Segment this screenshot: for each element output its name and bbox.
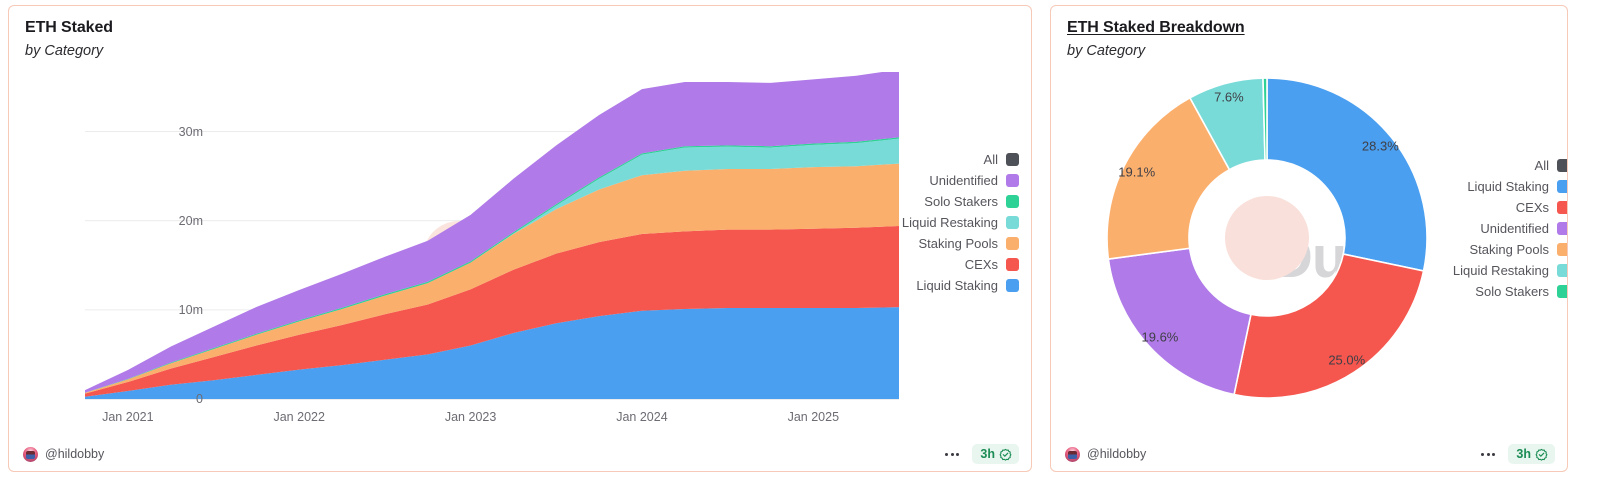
legend-item-solo-stakers[interactable]: Solo Stakers (1453, 284, 1568, 299)
legend-item-liquid-staking[interactable]: Liquid Staking (902, 278, 1019, 293)
x-axis: Jan 2021Jan 2022Jan 2023Jan 2024Jan 2025 (9, 410, 899, 432)
legend-item-unidentified[interactable]: Unidentified (902, 173, 1019, 188)
status-badge[interactable]: 3h (972, 444, 1019, 464)
author-name[interactable]: @hildobby (1087, 447, 1146, 461)
legend-swatch (1006, 237, 1019, 250)
verified-check-icon (999, 448, 1012, 461)
legend-item-cexs[interactable]: CEXs (902, 257, 1019, 272)
legend-swatch (1006, 279, 1019, 292)
legend-swatch (1006, 258, 1019, 271)
center-watermark-blob (1225, 196, 1309, 281)
legend-label: Unidentified (1480, 221, 1549, 236)
legend-item-staking-pools[interactable]: Staking Pools (1453, 242, 1568, 257)
legend-swatch (1557, 201, 1568, 214)
donut-slice-unidentified[interactable] (1108, 248, 1251, 394)
legend-item-cexs[interactable]: CEXs (1453, 200, 1568, 215)
panel-footer: @hildobby 3h (9, 437, 1031, 471)
legend-label: Staking Pools (919, 236, 999, 251)
legend-swatch (1006, 153, 1019, 166)
legend-label: Solo Stakers (924, 194, 998, 209)
status-badge[interactable]: 3h (1508, 444, 1555, 464)
legend-item-liquid-staking[interactable]: Liquid Staking (1453, 179, 1568, 194)
legend-swatch (1006, 216, 1019, 229)
legend-swatch (1557, 222, 1568, 235)
legend-label: Staking Pools (1470, 242, 1550, 257)
author-name[interactable]: @hildobby (45, 447, 104, 461)
freshness-label: 3h (980, 447, 995, 461)
x-axis-tick: Jan 2024 (616, 410, 667, 424)
chart-legend[interactable]: AllLiquid StakingCEXsUnidentifiedStaking… (1453, 158, 1568, 299)
y-axis-tick: 0 (196, 392, 203, 406)
legend-item-all[interactable]: All (1453, 158, 1568, 173)
avatar (1065, 447, 1080, 462)
avatar (23, 447, 38, 462)
panel-eth-staked-breakdown: ETH Staked Breakdown by Category Dune 28… (1050, 5, 1568, 472)
legend-swatch (1557, 243, 1568, 256)
donut-chart[interactable]: Dune 28.3%25.0%19.6%19.1%7.6% AllLiquid … (1051, 6, 1567, 471)
y-axis-tick: 10m (179, 303, 203, 317)
y-axis-tick: 20m (179, 214, 203, 228)
area-chart[interactable]: Dune Jan 2021Jan 2022Jan 2023Jan 2024Jan… (9, 6, 1031, 471)
donut-slice-label: 19.6% (1142, 330, 1179, 345)
dashboard: ETH Staked by Category Dune Jan 2021Jan … (0, 0, 1600, 477)
author[interactable]: @hildobby (1065, 447, 1146, 462)
author[interactable]: @hildobby (23, 447, 104, 462)
legend-label: Solo Stakers (1475, 284, 1549, 299)
donut-slice-label: 19.1% (1118, 165, 1155, 180)
donut-plot[interactable]: 28.3%25.0%19.6%19.1%7.6% (1097, 68, 1437, 408)
legend-item-liquid-restaking[interactable]: Liquid Restaking (902, 215, 1019, 230)
footer-actions: 3h (1478, 444, 1555, 464)
legend-label: All (1535, 158, 1549, 173)
x-axis-tick: Jan 2023 (445, 410, 496, 424)
legend-swatch (1006, 174, 1019, 187)
x-axis-tick: Jan 2025 (788, 410, 839, 424)
verified-check-icon (1535, 448, 1548, 461)
legend-label: Unidentified (929, 173, 998, 188)
legend-item-all[interactable]: All (902, 152, 1019, 167)
legend-label: CEXs (965, 257, 998, 272)
legend-label: Liquid Restaking (902, 215, 998, 230)
footer-actions: 3h (942, 444, 1019, 464)
freshness-label: 3h (1516, 447, 1531, 461)
donut-slice-label: 25.0% (1328, 353, 1365, 368)
legend-item-solo-stakers[interactable]: Solo Stakers (902, 194, 1019, 209)
legend-label: Liquid Staking (1467, 179, 1549, 194)
legend-swatch (1557, 159, 1568, 172)
legend-swatch (1006, 195, 1019, 208)
area-plot[interactable] (9, 72, 899, 417)
donut-svg[interactable] (1097, 68, 1437, 408)
legend-swatch (1557, 180, 1568, 193)
legend-label: CEXs (1516, 200, 1549, 215)
legend-item-staking-pools[interactable]: Staking Pools (902, 236, 1019, 251)
more-options-icon[interactable] (942, 449, 962, 460)
x-axis-tick: Jan 2021 (102, 410, 153, 424)
legend-swatch (1557, 285, 1568, 298)
more-options-icon[interactable] (1478, 449, 1498, 460)
y-axis-tick: 30m (179, 125, 203, 139)
donut-slice-label: 7.6% (1214, 90, 1244, 105)
legend-swatch (1557, 264, 1568, 277)
legend-label: All (984, 152, 998, 167)
chart-legend[interactable]: AllUnidentifiedSolo StakersLiquid Restak… (902, 152, 1019, 293)
x-axis-tick: Jan 2022 (273, 410, 324, 424)
legend-item-unidentified[interactable]: Unidentified (1453, 221, 1568, 236)
panel-eth-staked: ETH Staked by Category Dune Jan 2021Jan … (8, 5, 1032, 472)
panel-footer: @hildobby 3h (1051, 437, 1567, 471)
legend-label: Liquid Staking (916, 278, 998, 293)
legend-label: Liquid Restaking (1453, 263, 1549, 278)
donut-slice-label: 28.3% (1362, 139, 1399, 154)
legend-item-liquid-restaking[interactable]: Liquid Restaking (1453, 263, 1568, 278)
